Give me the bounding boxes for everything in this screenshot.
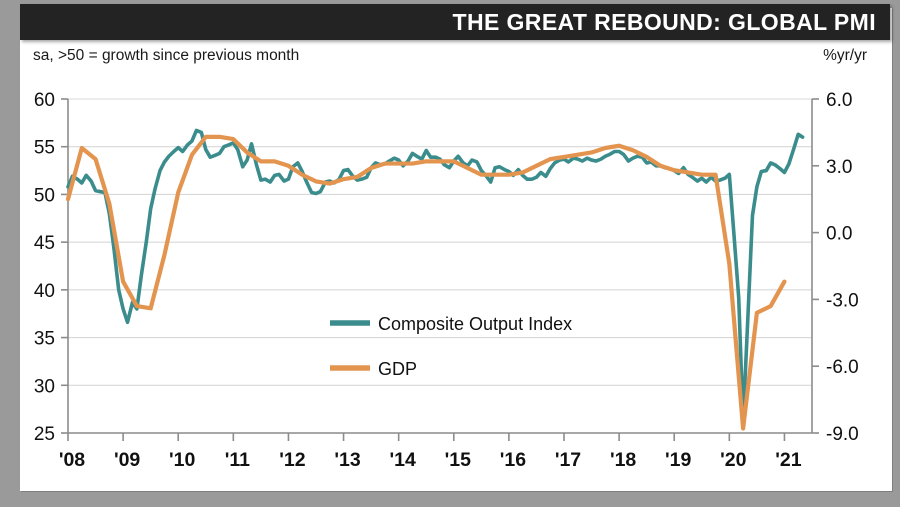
left-axis-tick-label: 25	[34, 424, 55, 445]
left-axis-tick-label: 60	[34, 90, 55, 111]
right-axis-tick-label: 3.0	[826, 157, 852, 178]
left-axis-tick-label: 30	[34, 376, 55, 397]
x-axis-tick-label: '11	[225, 449, 250, 471]
left-axis-tick-label: 40	[34, 281, 55, 302]
chart-screenshot: THE GREAT REBOUND: GLOBAL PMI sa, >50 = …	[0, 0, 900, 507]
left-axis-tick-label: 45	[34, 233, 55, 254]
x-axis-tick-label: '18	[610, 449, 636, 471]
left-axis-tick-label: 50	[34, 185, 55, 206]
x-axis-tick-label: '15	[445, 449, 471, 471]
x-axis-tick-label: '17	[555, 449, 581, 471]
x-axis-tick-label: '12	[279, 449, 305, 471]
left-axis-tick-label: 35	[34, 329, 55, 350]
legend-label-2: GDP	[378, 359, 417, 379]
right-axis-tick-label: -9.0	[826, 424, 859, 445]
x-axis-tick-label: '10	[169, 449, 195, 471]
right-axis-tick-label: -3.0	[826, 290, 859, 311]
x-axis-tick-label: '13	[334, 449, 360, 471]
right-axis-tick-label: 0.0	[826, 224, 852, 245]
x-axis-tick-label: '14	[390, 449, 416, 471]
x-axis-tick-label: '20	[720, 449, 746, 471]
plot-area: 60555045403530256.03.00.0-3.0-6.0-9.0'08…	[0, 0, 900, 507]
pmi-gdp-line-chart: 60555045403530256.03.00.0-3.0-6.0-9.0'08…	[0, 0, 900, 507]
x-axis-tick-label: '09	[114, 449, 140, 471]
right-axis-tick-label: -6.0	[826, 357, 859, 378]
x-axis-tick-label: '21	[775, 449, 801, 471]
left-axis-tick-label: 55	[34, 138, 55, 159]
x-axis-tick-label: '19	[665, 449, 691, 471]
legend-label-1: Composite Output Index	[378, 314, 572, 334]
x-axis-tick-label: '16	[500, 449, 526, 471]
right-axis-tick-label: 6.0	[826, 90, 852, 111]
x-axis-tick-label: '08	[59, 449, 85, 471]
